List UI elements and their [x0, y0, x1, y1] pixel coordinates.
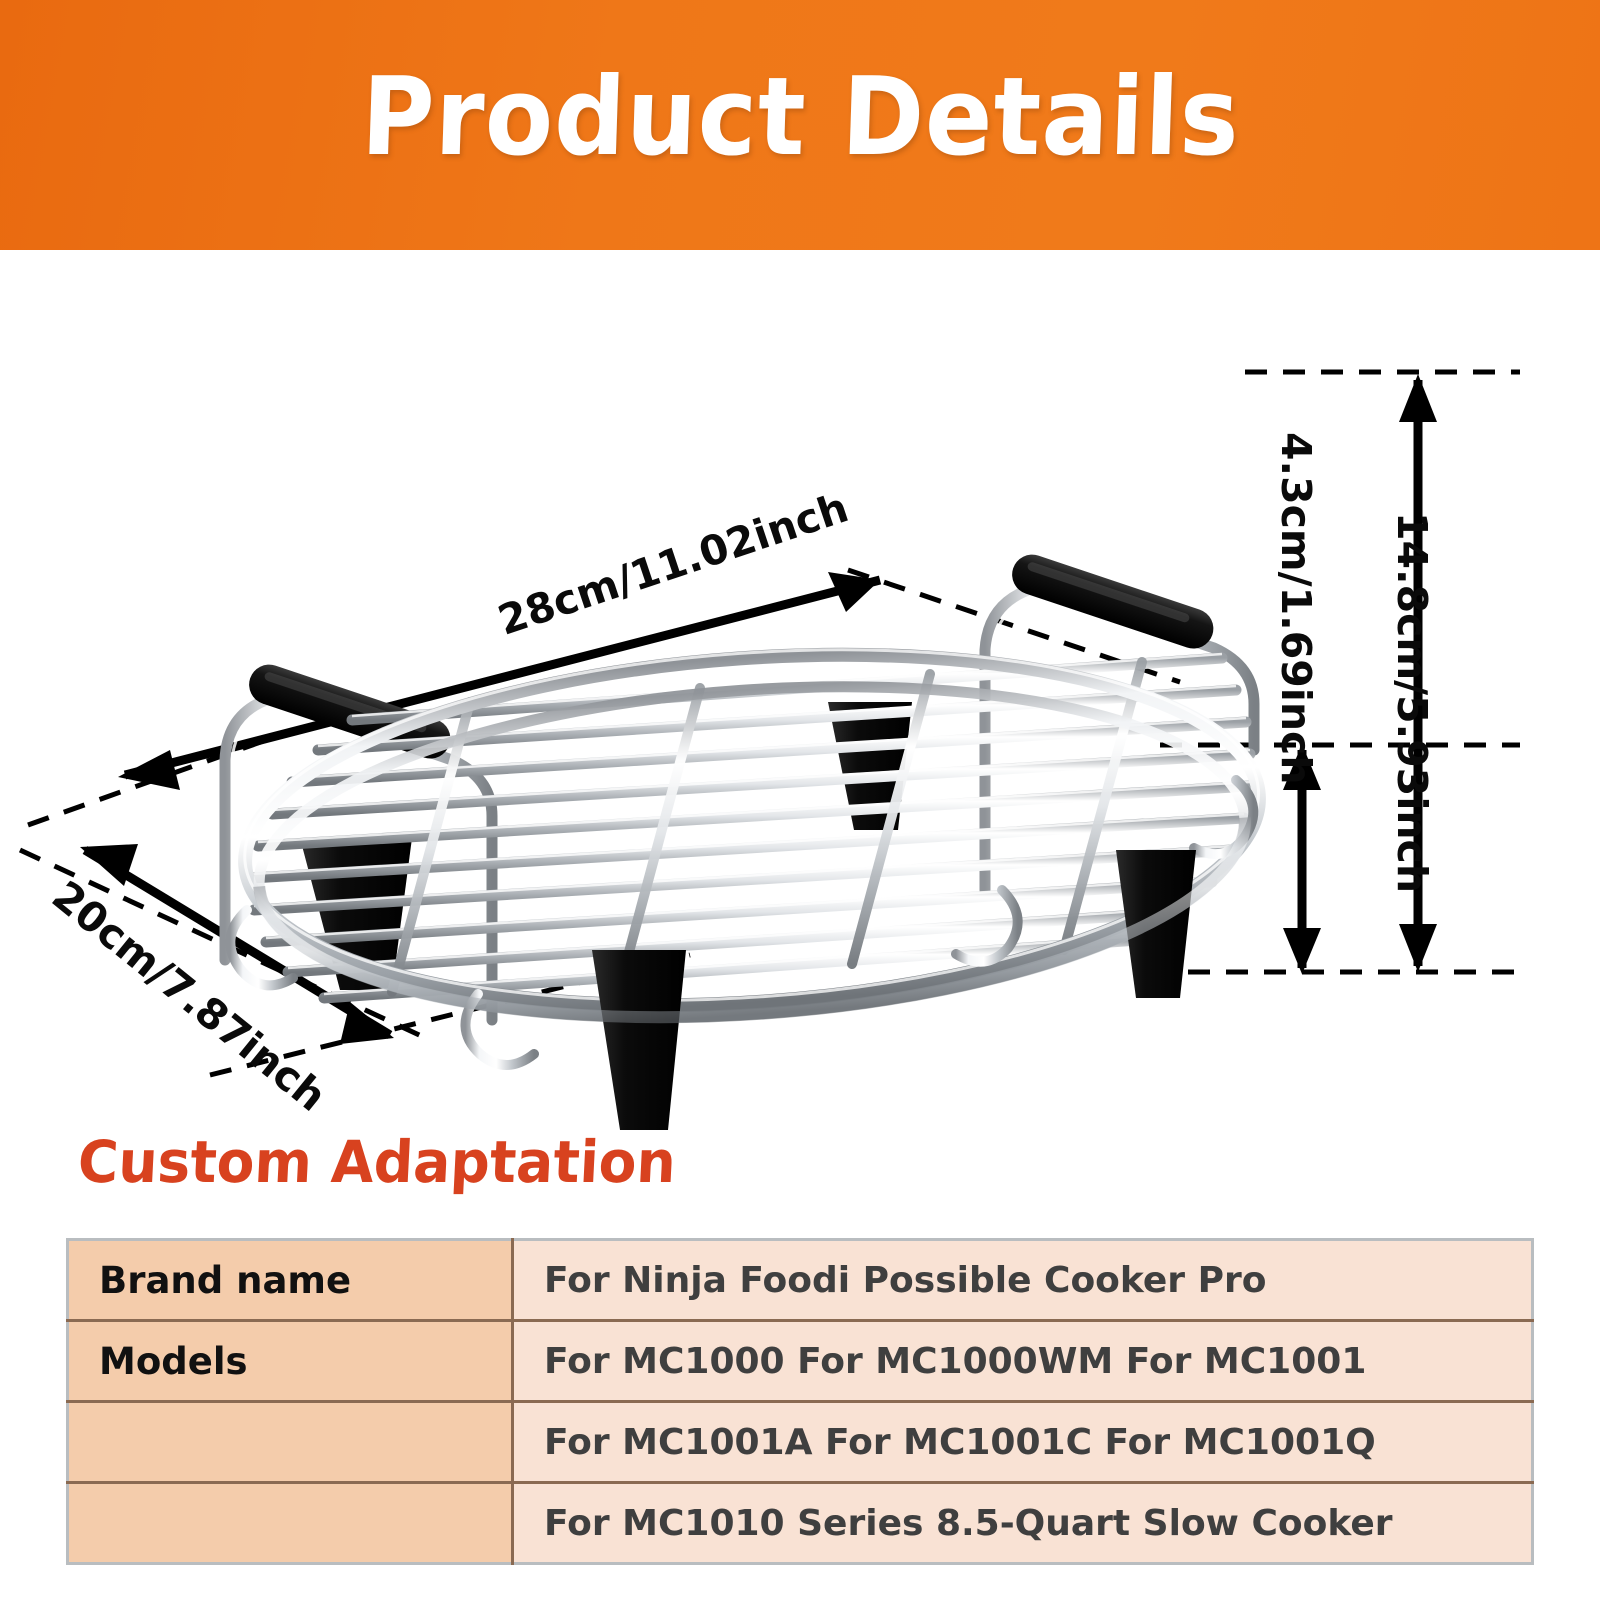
table-cell-value: For MC1010 Series 8.5-Quart Slow Cooker [513, 1483, 1533, 1564]
product-figure: 28cm/11.02inch 20cm/7.87inch 4.3cm/1.69i… [0, 250, 1600, 1150]
table-cell-label [68, 1483, 513, 1564]
custom-adaptation-heading: Custom Adaptation [76, 1128, 677, 1196]
page-title: Product Details [359, 64, 1241, 186]
table-cell-label [68, 1402, 513, 1483]
table-cell-value: For MC1000 For MC1000WM For MC1001 [513, 1321, 1533, 1402]
product-details-page: Product Details [0, 0, 1600, 1600]
rack-grid [230, 618, 1270, 1065]
compatibility-table: Brand name For Ninja Foodi Possible Cook… [66, 1238, 1534, 1565]
table-row: For MC1010 Series 8.5-Quart Slow Cooker [68, 1483, 1533, 1564]
header-banner: Product Details [0, 0, 1600, 250]
table-row: For MC1001A For MC1001C For MC1001Q [68, 1402, 1533, 1483]
table-cell-value: For Ninja Foodi Possible Cooker Pro [513, 1240, 1533, 1321]
table-row: Brand name For Ninja Foodi Possible Cook… [68, 1240, 1533, 1321]
dimension-label-total-height: 14.8cm/5.93inch [1391, 512, 1432, 893]
table-cell-label: Brand name [68, 1240, 513, 1321]
dimension-label-rack-height: 4.3cm/1.69inch [1275, 432, 1316, 785]
table-cell-value: For MC1001A For MC1001C For MC1001Q [513, 1402, 1533, 1483]
table-row: Models For MC1000 For MC1000WM For MC100… [68, 1321, 1533, 1402]
table-cell-label: Models [68, 1321, 513, 1402]
